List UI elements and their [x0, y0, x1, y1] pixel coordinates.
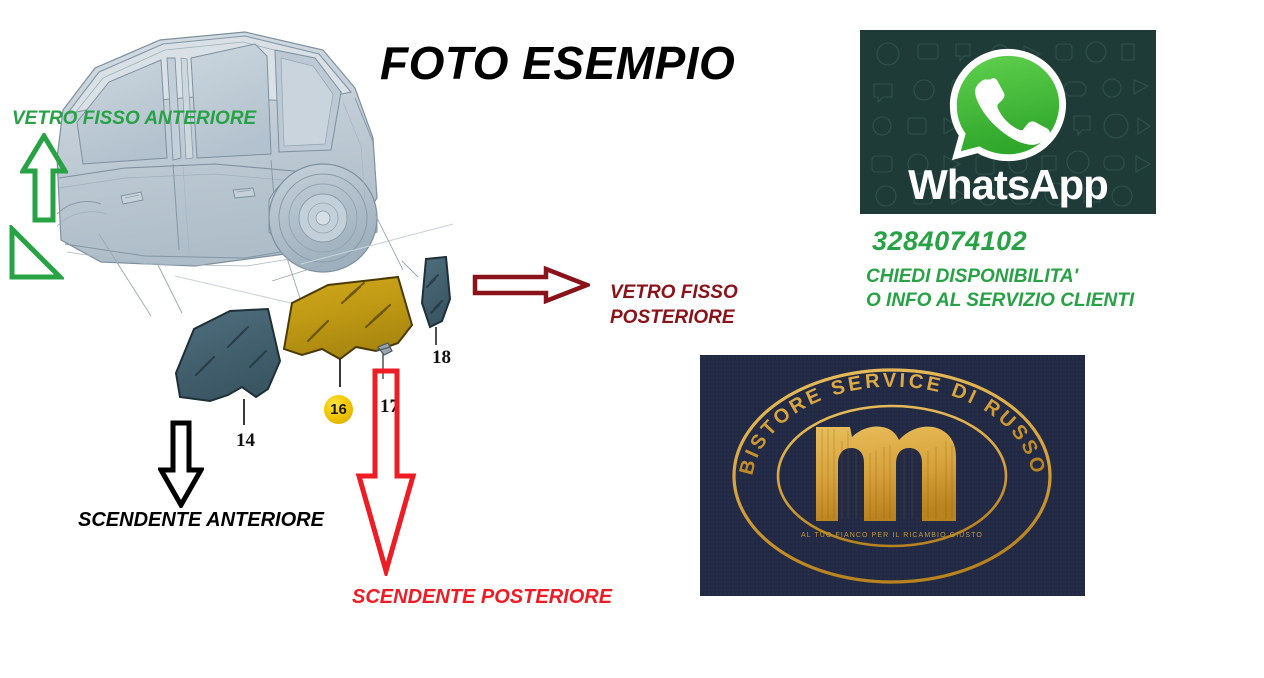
- part-number-16-badge: 16: [324, 395, 353, 424]
- green-up-arrow-icon: [20, 133, 68, 223]
- label-vetro-fisso-posteriore: VETRO FISSO POSTERIORE: [610, 281, 738, 330]
- part-number-18: 18: [432, 347, 451, 369]
- label-scendente-anteriore: SCENDENTE ANTERIORE: [78, 509, 324, 531]
- part-number-14: 14: [236, 430, 255, 452]
- company-logo-photo: MRICAMBISTORE SERVICE DI RUSSO MARCO AL …: [700, 355, 1085, 596]
- label-scendente-posteriore: SCENDENTE POSTERIORE: [352, 586, 612, 608]
- contact-instructions: CHIEDI DISPONIBILITA' O INFO AL SERVIZIO…: [866, 265, 1134, 314]
- logo-monogram: [816, 426, 956, 521]
- green-triangle-icon: [8, 225, 64, 281]
- black-down-arrow-icon: [158, 420, 204, 508]
- poster-canvas: FOTO ESEMPIO: [0, 0, 1264, 678]
- whatsapp-logo-icon: [945, 44, 1071, 170]
- whatsapp-banner: WhatsApp: [860, 30, 1156, 214]
- exploded-glass-parts: [150, 255, 480, 445]
- darkred-right-arrow-icon: [472, 266, 590, 304]
- logo-tagline: AL TUO FIANCO PER IL RICAMBIO GIUSTO: [801, 532, 983, 539]
- phone-number[interactable]: 3284074102: [872, 226, 1027, 257]
- red-down-arrow-icon: [355, 368, 417, 576]
- whatsapp-wordmark: WhatsApp: [860, 161, 1156, 209]
- label-vetro-fisso-anteriore: VETRO FISSO ANTERIORE: [12, 108, 256, 129]
